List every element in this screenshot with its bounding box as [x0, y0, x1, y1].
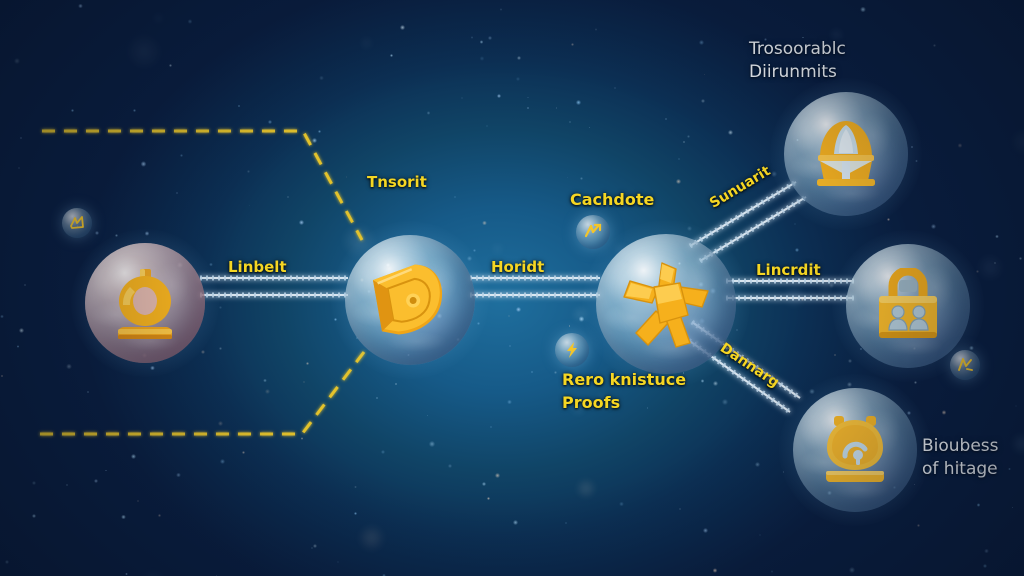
spark-badge-icon — [583, 222, 603, 242]
bokeh-dot — [145, 231, 149, 235]
node-left[interactable] — [85, 243, 205, 363]
bokeh-dot — [216, 296, 218, 298]
bokeh-dot — [218, 421, 223, 426]
bokeh-dot — [736, 329, 738, 331]
bokeh-dot — [516, 307, 521, 312]
bokeh-dot — [703, 528, 708, 533]
bokeh-dot — [18, 167, 20, 169]
bokeh-dot — [490, 426, 492, 428]
bokeh-dot — [704, 74, 706, 76]
bokeh-dot — [301, 437, 304, 440]
bokeh-dot — [728, 130, 733, 135]
bokeh-dot — [958, 143, 962, 147]
bokeh-dot — [78, 4, 82, 8]
bokeh-dot — [133, 109, 136, 112]
arrow-badge-icon — [956, 356, 974, 374]
bokeh-dot — [830, 28, 844, 42]
bokeh-dot — [687, 226, 692, 231]
bokeh-dot — [829, 283, 834, 288]
bokeh-dot — [571, 402, 585, 416]
bokeh-dot — [565, 522, 567, 524]
bokeh-dot — [429, 441, 435, 447]
node-caption-bottom-right-line1: Bioubess — [922, 437, 999, 457]
bokeh-dot — [917, 524, 920, 527]
bokeh-dot — [115, 234, 118, 237]
badge-hub-upper[interactable] — [576, 215, 610, 249]
bokeh-dot — [572, 306, 589, 323]
bokeh-dot — [176, 473, 180, 477]
badge-left[interactable] — [62, 208, 92, 238]
bokeh-dot — [818, 279, 834, 295]
bokeh-dot — [20, 137, 22, 139]
bokeh-dot — [448, 464, 452, 468]
bokeh-dot — [477, 322, 480, 325]
bokeh-dot — [242, 451, 245, 454]
bokeh-dot — [486, 125, 488, 127]
bokeh-dot — [318, 130, 321, 133]
bokeh-dot — [461, 97, 463, 99]
bokeh-dot — [933, 44, 936, 47]
bokeh-dot — [687, 135, 690, 138]
bokeh-dot — [927, 468, 933, 474]
bokeh-dot — [783, 471, 785, 473]
bokeh-dot — [495, 473, 500, 478]
bokeh-dot — [1012, 507, 1013, 508]
bokeh-dot — [683, 141, 685, 143]
bokeh-dot — [487, 497, 489, 499]
bokeh-dot — [311, 547, 312, 548]
bokeh-dot — [488, 36, 492, 40]
node-caption-top-right-line2: Diirunmits — [749, 63, 837, 83]
node-mid-right[interactable] — [846, 244, 970, 368]
bokeh-dot — [138, 570, 169, 576]
bokeh-dot — [755, 462, 761, 468]
bokeh-dot — [678, 158, 680, 160]
bokeh-dot — [358, 524, 385, 551]
bokeh-dot — [914, 381, 917, 384]
bokeh-dot — [726, 354, 729, 357]
bokeh-dot — [390, 54, 393, 57]
edge-label-sunuarit: Sunuarit — [707, 163, 773, 212]
bokeh-dot — [907, 411, 911, 415]
bokeh-dot — [509, 345, 511, 347]
bokeh-dot — [795, 248, 799, 252]
bokeh-dot — [995, 235, 998, 238]
bokeh-dot — [354, 512, 357, 515]
hub-label-proofs-line2: Proofs — [562, 394, 620, 412]
ring-seal-icon — [109, 265, 181, 341]
bokeh-dot — [220, 459, 225, 464]
bokeh-dot — [299, 220, 304, 225]
bokeh-dot — [219, 306, 222, 309]
node-caption-top-right-line1: Trosoorablc — [749, 40, 846, 60]
bokeh-dot — [809, 262, 813, 266]
bokeh-dot — [699, 40, 704, 45]
bokeh-dot — [201, 350, 205, 354]
diamond-d-icon — [367, 258, 453, 342]
diagram-canvas: Linbelt Horidt Lincrdit Tnsorit Sunuarit… — [0, 0, 1024, 576]
bokeh-dot — [480, 56, 485, 61]
bokeh-dot — [981, 473, 986, 478]
bokeh-dot — [1, 375, 3, 377]
bokeh-dot — [313, 544, 317, 548]
bokeh-dot — [238, 105, 241, 108]
node-hub[interactable] — [596, 234, 736, 374]
bokeh-dot — [576, 478, 596, 498]
bokeh-dot — [860, 348, 862, 350]
bokeh-dot — [554, 371, 557, 374]
bokeh-dot — [647, 407, 648, 408]
spark-badge-icon — [68, 214, 86, 232]
bokeh-dot — [942, 410, 946, 414]
node-top-right[interactable] — [784, 92, 908, 216]
bokeh-dot — [569, 325, 571, 327]
bokeh-dot — [556, 107, 557, 108]
bokeh-dot — [1010, 129, 1024, 155]
bokeh-dot — [759, 534, 760, 535]
bokeh-dot — [337, 561, 339, 563]
bokeh-dot — [473, 249, 475, 251]
bokeh-dot — [287, 196, 290, 199]
bokeh-dot — [482, 482, 486, 486]
bokeh-dot — [722, 399, 728, 405]
bokeh-dot — [454, 196, 456, 198]
padlock-people-icon — [871, 268, 945, 344]
bokeh-dot — [24, 284, 27, 287]
bokeh-dot — [105, 470, 106, 471]
bokeh-dot — [125, 573, 127, 575]
bokeh-dot — [771, 171, 776, 176]
bokeh-dot — [983, 564, 987, 568]
bokeh-dot — [571, 43, 574, 46]
bokeh-dot — [701, 99, 705, 103]
bokeh-dot — [595, 28, 597, 30]
bokeh-dot — [679, 508, 681, 510]
bokeh-dot — [508, 315, 511, 318]
bokeh-dot — [32, 481, 37, 486]
bokeh-dot — [676, 179, 681, 184]
bokeh-dot — [66, 364, 71, 369]
bokeh-dot — [513, 520, 518, 525]
bokeh-dot — [984, 549, 988, 553]
bokeh-dot — [701, 379, 704, 382]
bokeh-dot — [126, 34, 161, 69]
bokeh-dot — [480, 40, 484, 44]
edge-label-linbelt: Linbelt — [228, 259, 287, 276]
bokeh-dot — [977, 254, 1004, 281]
bokeh-dot — [665, 118, 667, 120]
bokeh-dot — [467, 256, 472, 261]
bokeh-dot — [19, 328, 24, 333]
bokeh-dot — [683, 372, 684, 373]
bokeh-dot — [911, 146, 912, 147]
bokeh-dot — [153, 13, 164, 24]
bokeh-dot — [794, 223, 795, 224]
bokeh-dot — [860, 7, 865, 12]
bokeh-dot — [589, 127, 590, 128]
bokeh-dot — [728, 192, 733, 197]
bokeh-dot — [87, 391, 89, 393]
bokeh-dot — [764, 38, 767, 41]
bokeh-dot — [346, 176, 347, 177]
bokeh-dot — [567, 177, 569, 179]
chain-left-mid — [200, 278, 348, 295]
bokeh-dot — [427, 415, 429, 417]
edge-label-lincrdit: Lincrdit — [756, 262, 821, 279]
bokeh-dot — [619, 502, 623, 506]
bokeh-dot — [14, 58, 19, 63]
bokeh-dot — [579, 316, 584, 321]
bokeh-dot — [95, 231, 99, 235]
bokeh-dot — [1011, 433, 1024, 455]
node-caption-bottom-right-line2: of hitage — [922, 460, 998, 480]
bolt-badge-icon — [562, 340, 582, 360]
bokeh-dot — [1008, 468, 1010, 470]
chain-mid-hub — [470, 278, 600, 295]
bokeh-dot — [471, 36, 473, 38]
edge-label-dannarg: Dannarg — [717, 340, 782, 391]
badge-far-right[interactable] — [950, 350, 980, 380]
bokeh-dot — [783, 285, 806, 308]
bokeh-dot — [319, 76, 323, 80]
bokeh-dot — [169, 64, 172, 67]
badge-hub-lower[interactable] — [555, 333, 589, 367]
bokeh-dot — [158, 514, 161, 517]
bokeh-dot — [491, 242, 503, 254]
bokeh-dot — [265, 389, 270, 394]
bokeh-dot — [395, 383, 396, 384]
node-mid[interactable] — [345, 235, 475, 365]
bokeh-dot — [594, 392, 613, 411]
bokeh-dot — [306, 362, 309, 365]
bokeh-dot — [771, 570, 773, 572]
bokeh-dot — [303, 381, 305, 383]
bokeh-dot — [249, 205, 250, 206]
bokeh-dot — [150, 366, 155, 371]
bokeh-dot — [376, 397, 378, 399]
bokeh-dot — [176, 192, 177, 193]
bokeh-dot — [713, 381, 718, 386]
bokeh-dot — [500, 8, 502, 10]
bokeh-dot — [5, 560, 8, 563]
bokeh-dot — [0, 315, 3, 318]
bokeh-dot — [887, 218, 890, 221]
bokeh-dot — [141, 161, 146, 166]
bokeh-dot — [131, 454, 136, 459]
bokeh-dot — [507, 400, 511, 404]
bokeh-dot — [17, 345, 19, 347]
bokeh-dot — [976, 270, 979, 273]
bokeh-dot — [516, 77, 520, 81]
bokeh-dot — [569, 121, 571, 123]
bokeh-dot — [1019, 257, 1021, 259]
bokeh-dot — [247, 170, 250, 173]
bokeh-dot — [915, 160, 917, 162]
bokeh-dot — [527, 107, 529, 109]
bokeh-dot — [848, 359, 852, 363]
bokeh-dot — [713, 568, 718, 573]
bokeh-dot — [977, 503, 981, 507]
bokeh-dot — [334, 318, 337, 321]
bokeh-dot — [527, 97, 528, 98]
scale-balance-icon — [809, 119, 883, 189]
bokeh-dot — [580, 177, 583, 180]
bokeh-dot — [978, 469, 983, 474]
bokeh-dot — [955, 463, 959, 467]
bokeh-dot — [354, 486, 356, 488]
bokeh-dot — [137, 500, 139, 502]
bokeh-dot — [531, 371, 533, 373]
bokeh-dot — [71, 109, 74, 112]
dashed-bypass-lower — [40, 352, 364, 434]
bokeh-dot — [849, 567, 855, 573]
bokeh-dot — [802, 37, 803, 38]
bokeh-dot — [994, 262, 996, 264]
bokeh-dot — [121, 515, 125, 519]
bokeh-dot — [209, 263, 212, 266]
bokeh-dot — [312, 138, 317, 143]
bokeh-dot — [847, 382, 852, 387]
bokeh-dot — [188, 19, 193, 24]
bokeh-dot — [1015, 405, 1017, 407]
edge-label-tnsorit: Tnsorit — [367, 174, 427, 191]
bokeh-dot — [809, 389, 814, 394]
bokeh-dot — [801, 298, 803, 300]
bokeh-dot — [268, 120, 272, 124]
bokeh-dot — [32, 514, 36, 518]
bokeh-dot — [219, 347, 222, 350]
bokeh-dot — [772, 197, 774, 199]
bokeh-dot — [427, 111, 431, 115]
bokeh-dot — [94, 479, 98, 483]
bokeh-dot — [517, 56, 521, 60]
bokeh-dot — [576, 100, 580, 104]
bokeh-dot — [834, 354, 836, 356]
bokeh-dot — [614, 87, 616, 89]
edge-label-horidt: Horidt — [491, 259, 544, 276]
bokeh-dot — [180, 154, 183, 157]
bokeh-dot — [263, 379, 267, 383]
starburst-icon — [618, 257, 714, 351]
bokeh-dot — [497, 94, 501, 98]
bokeh-dot — [931, 224, 936, 229]
chain-hub-midright — [726, 281, 854, 298]
bokeh-dot — [360, 36, 374, 50]
bokeh-dot — [381, 450, 385, 454]
bokeh-dot — [400, 25, 405, 30]
bokeh-dot — [482, 221, 486, 225]
node-bottom-right[interactable] — [793, 388, 917, 512]
bokeh-dot — [914, 484, 916, 486]
bokeh-dot — [66, 484, 69, 487]
hub-label-cachdote: Cachdote — [570, 191, 654, 209]
vault-lock-icon — [817, 412, 893, 488]
